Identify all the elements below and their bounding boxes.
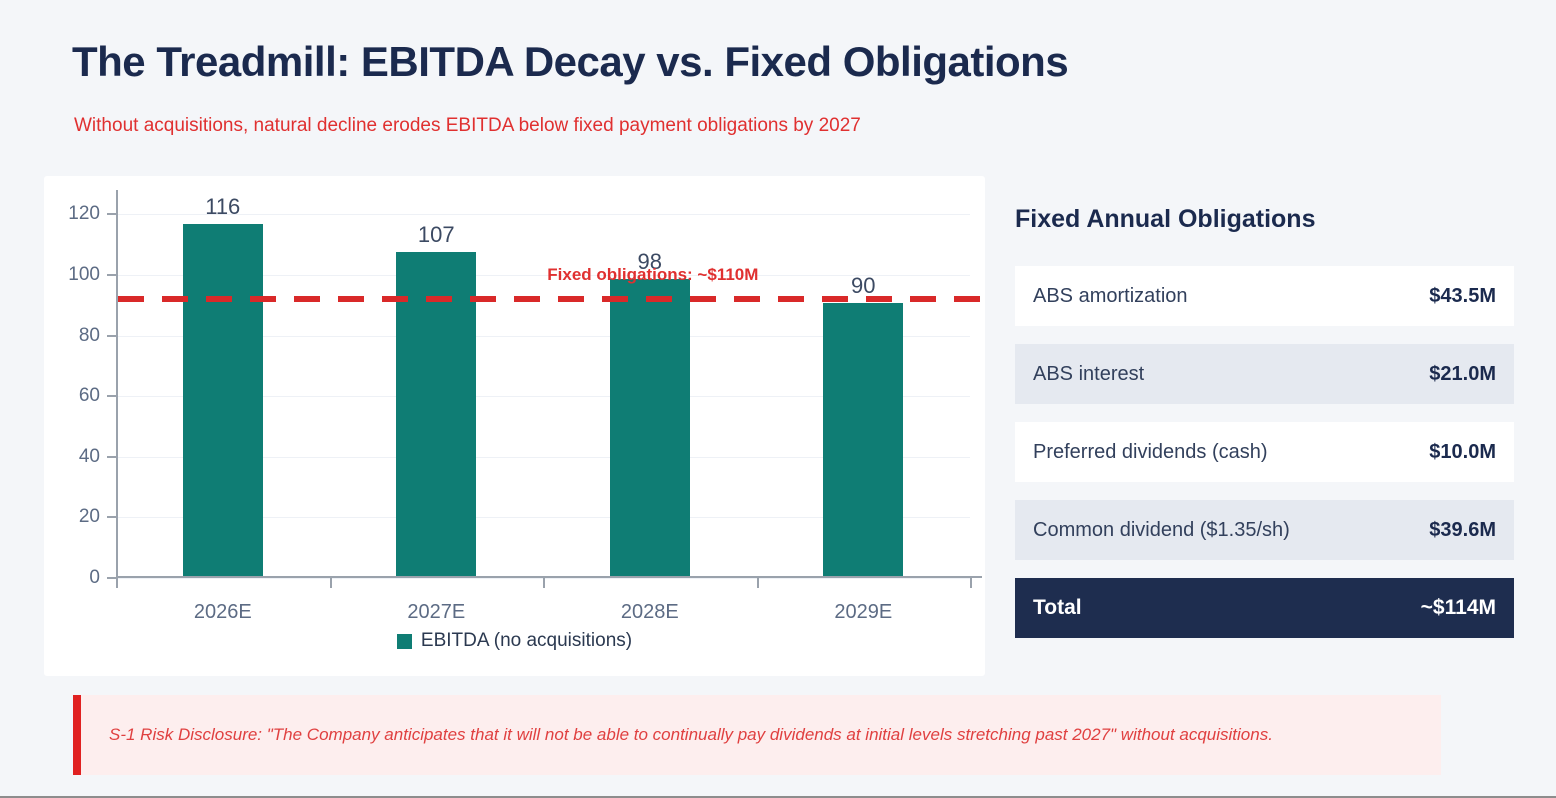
obligation-row: Common dividend ($1.35/sh)$39.6M <box>1015 500 1514 560</box>
y-axis-tick-label: 100 <box>68 264 100 286</box>
disclosure-text: S-1 Risk Disclosure: "The Company antici… <box>109 725 1273 745</box>
chart-legend: EBITDA (no acquisitions) <box>44 630 985 652</box>
disclosure-accent-bar <box>73 695 81 775</box>
y-axis-tick-label: 80 <box>79 325 100 347</box>
obligations-title: Fixed Annual Obligations <box>1015 205 1315 234</box>
x-axis-tick-mark <box>543 578 545 588</box>
x-axis-label-2026E: 2026E <box>194 601 252 624</box>
bar-2028E[interactable] <box>610 279 690 576</box>
obligation-label: Preferred dividends (cash) <box>1033 441 1268 464</box>
y-axis-tick-mark <box>107 456 116 458</box>
y-axis-tick-mark <box>107 335 116 337</box>
y-axis-tick-label: 0 <box>89 567 100 589</box>
y-axis-tick-mark <box>107 213 116 215</box>
obligation-row: ABS amortization$43.5M <box>1015 266 1514 326</box>
legend-swatch-ebitda <box>397 634 412 649</box>
obligation-total-row: Total~$114M <box>1015 578 1514 638</box>
y-axis-tick-label: 40 <box>79 446 100 468</box>
chart-plot-area: 0204060801001201162026E1072027E982028E90… <box>116 190 970 578</box>
legend-label-ebitda: EBITDA (no acquisitions) <box>421 630 632 652</box>
x-axis-label-2029E: 2029E <box>834 601 892 624</box>
gridline <box>118 214 970 215</box>
obligation-value: $39.6M <box>1429 519 1496 542</box>
obligation-row: Preferred dividends (cash)$10.0M <box>1015 422 1514 482</box>
obligation-value: $43.5M <box>1429 285 1496 308</box>
bar-2026E[interactable] <box>183 224 263 576</box>
y-axis-tick-label: 60 <box>79 385 100 407</box>
bar-value-label: 116 <box>205 194 240 220</box>
x-axis-label-2028E: 2028E <box>621 601 679 624</box>
fixed-obligations-threshold-label: Fixed obligations: ~$110M <box>547 265 758 285</box>
fixed-obligations-threshold-line <box>118 296 982 302</box>
obligation-label: ABS interest <box>1033 363 1144 386</box>
y-axis-line <box>116 190 118 578</box>
fixed-obligations-panel: Fixed Annual Obligations ABS amortizatio… <box>1015 176 1514 676</box>
y-axis-tick-label: 20 <box>79 506 100 528</box>
obligation-label: Common dividend ($1.35/sh) <box>1033 519 1290 542</box>
x-axis-tick-mark <box>330 578 332 588</box>
obligation-label: Total <box>1033 596 1082 620</box>
x-axis-tick-mark <box>757 578 759 588</box>
obligation-value: ~$114M <box>1421 596 1496 620</box>
chart-card: 0204060801001201162026E1072027E982028E90… <box>44 176 985 676</box>
bar-value-label: 107 <box>418 222 455 248</box>
x-axis-tick-mark <box>970 578 972 588</box>
x-axis-tick-mark <box>116 578 118 588</box>
page-title: The Treadmill: EBITDA Decay vs. Fixed Ob… <box>72 38 1068 86</box>
obligation-row: ABS interest$21.0M <box>1015 344 1514 404</box>
page-subtitle: Without acquisitions, natural decline er… <box>74 115 861 137</box>
obligation-value: $21.0M <box>1429 363 1496 386</box>
y-axis-tick-mark <box>107 516 116 518</box>
obligation-value: $10.0M <box>1429 441 1496 464</box>
y-axis-tick-mark <box>107 395 116 397</box>
obligations-table: ABS amortization$43.5MABS interest$21.0M… <box>1015 266 1514 638</box>
obligation-label: ABS amortization <box>1033 285 1188 308</box>
x-axis-label-2027E: 2027E <box>407 601 465 624</box>
y-axis-tick-label: 120 <box>68 203 100 225</box>
slide-root: The Treadmill: EBITDA Decay vs. Fixed Ob… <box>0 0 1556 798</box>
y-axis-tick-mark <box>107 274 116 276</box>
bar-2029E[interactable] <box>823 303 903 576</box>
y-axis-tick-mark <box>107 577 116 579</box>
risk-disclosure-callout: S-1 Risk Disclosure: "The Company antici… <box>73 695 1441 775</box>
